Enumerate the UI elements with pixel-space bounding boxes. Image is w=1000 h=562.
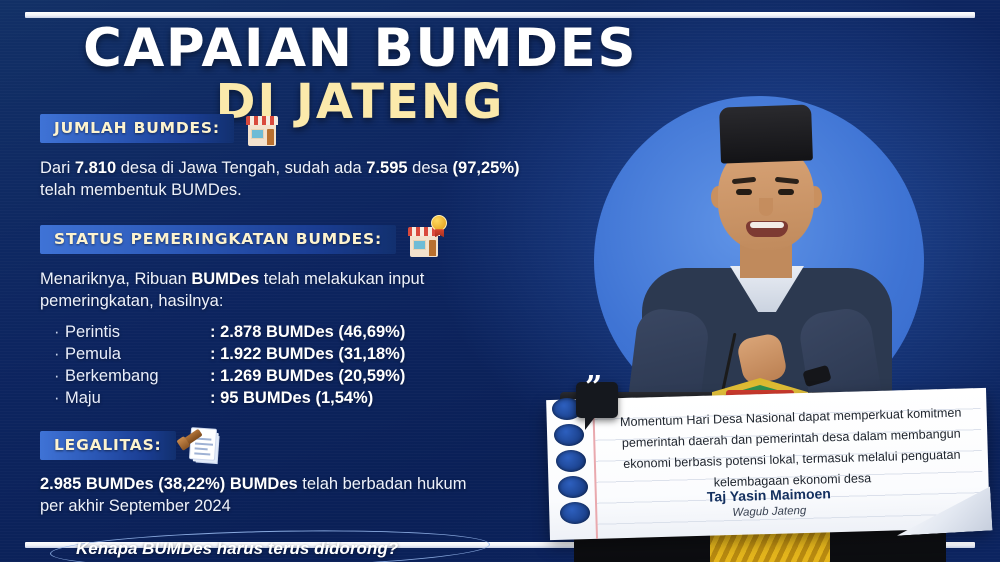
rank-label: Pemula xyxy=(65,344,210,366)
content-column: JUMLAH BUMDES: Dari 7.810 desa di Jawa T… xyxy=(40,108,600,562)
mouth xyxy=(746,221,788,237)
section-header-jumlah: JUMLAH BUMDES: xyxy=(40,108,600,148)
legalitas-rest: telah berbadan hukum xyxy=(298,475,467,493)
badge-status-pemeringkatan: STATUS PEMERINGKATAN BUMDES: xyxy=(40,225,396,254)
infographic-canvas: JAWA TENGAH CAPAIAN BUMDES DI JATENG JUM… xyxy=(0,0,1000,562)
jumlah-value-percent: (97,25%) xyxy=(453,159,520,177)
legal-document-gavel-icon xyxy=(184,426,218,464)
jumlah-mid: desa di Jawa Tengah, sudah ada xyxy=(116,159,366,177)
jumlah-value-desa-ada: 7.595 xyxy=(366,159,407,177)
nose xyxy=(759,198,773,216)
list-item: · Pemula : 1.922 BUMDes (31,18%) xyxy=(54,344,600,366)
question-text: Kenapa BUMDes harus terus didorong? xyxy=(76,539,398,559)
list-item: · Perintis : 2.878 BUMDes (46,69%) xyxy=(54,322,600,344)
rank-value: : 95 BUMDes (1,54%) xyxy=(210,388,373,410)
legalitas-body: 2.985 BUMDes (38,22%) BUMDes telah berba… xyxy=(40,473,600,517)
bullet: · xyxy=(54,388,65,410)
badge-jumlah-bumdes: JUMLAH BUMDES: xyxy=(40,114,234,143)
jumlah-line2: telah membentuk BUMDes. xyxy=(40,181,242,199)
ranking-list: · Perintis : 2.878 BUMDes (46,69%) · Pem… xyxy=(54,322,600,410)
title-line-1: CAPAIAN BUMDES xyxy=(0,22,720,75)
bullet: · xyxy=(54,322,65,344)
rank-label: Berkembang xyxy=(65,366,210,388)
left-eye xyxy=(736,189,752,195)
status-body: Menariknya, Ribuan BUMDes telah melakuka… xyxy=(40,268,600,312)
question-callout: Kenapa BUMDes harus terus didorong? xyxy=(50,531,490,562)
right-eye xyxy=(778,189,794,195)
storefront-award-icon xyxy=(404,219,444,259)
quote-glyph: ” xyxy=(585,373,602,403)
quote-mark-icon: ” xyxy=(576,382,618,418)
list-item: · Maju : 95 BUMDes (1,54%) xyxy=(54,388,600,410)
binder-hole xyxy=(560,502,590,524)
status-prefix: Menariknya, Ribuan xyxy=(40,270,191,288)
rank-value: : 2.878 BUMDes (46,69%) xyxy=(210,322,405,344)
status-mid: telah melakukan input xyxy=(259,270,424,288)
binder-hole xyxy=(556,450,586,472)
jumlah-body: Dari 7.810 desa di Jawa Tengah, sudah ad… xyxy=(40,157,600,201)
badge-legalitas: LEGALITAS: xyxy=(40,431,176,460)
rank-label: Maju xyxy=(65,388,210,410)
status-bold-bumdes: BUMDes xyxy=(191,270,259,288)
rank-value: : 1.269 BUMDes (20,59%) xyxy=(210,366,405,388)
jumlah-value-desa-total: 7.810 xyxy=(75,159,116,177)
legalitas-value: 2.985 BUMDes (38,22%) BUMDes xyxy=(40,475,298,493)
bullet: · xyxy=(54,366,65,388)
binder-hole xyxy=(554,424,584,446)
list-item: · Berkembang : 1.269 BUMDes (20,59%) xyxy=(54,366,600,388)
jumlah-mid2: desa xyxy=(408,159,453,177)
bullet: · xyxy=(54,344,65,366)
binder-hole xyxy=(558,476,588,498)
storefront-icon xyxy=(242,108,282,148)
rank-value: : 1.922 BUMDes (31,18%) xyxy=(210,344,405,366)
section-header-status: STATUS PEMERINGKATAN BUMDES: xyxy=(40,219,600,259)
jumlah-prefix: Dari xyxy=(40,159,75,177)
status-line2: pemeringkatan, hasilnya: xyxy=(40,292,223,310)
section-header-legalitas: LEGALITAS: xyxy=(40,426,600,464)
rank-label: Perintis xyxy=(65,322,210,344)
peci-cap xyxy=(719,104,813,163)
legalitas-line2: per akhir September 2024 xyxy=(40,497,231,515)
award-medal-icon xyxy=(431,215,447,231)
